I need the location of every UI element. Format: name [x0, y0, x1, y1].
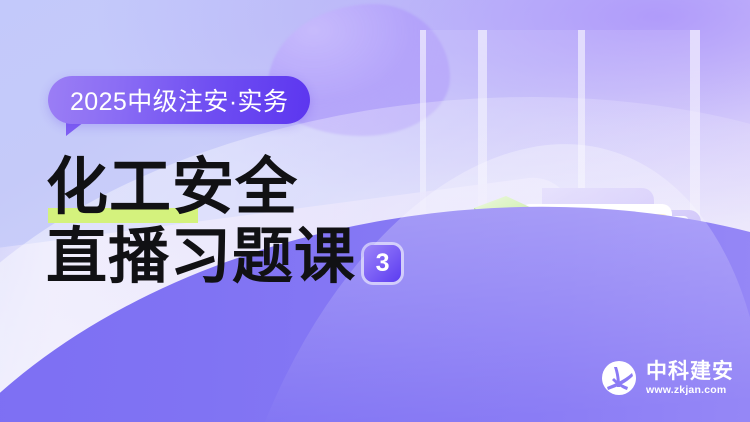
banner-content: 2025中级注安·实务 化工安全 直播习题课 3: [0, 0, 470, 422]
course-badge-label: 2025中级注安·实务: [70, 82, 288, 118]
badge-tail: [66, 122, 84, 136]
brand-logo[interactable]: 中科建安 www.zkjan.com: [601, 360, 734, 396]
zkjan-circle-icon: [601, 360, 637, 396]
logo-website-url: www.zkjan.com: [646, 384, 734, 396]
logo-company-name: 中科建安: [646, 361, 734, 383]
title-line-1: 化工安全: [46, 152, 298, 222]
logo-text-block: 中科建安 www.zkjan.com: [646, 361, 734, 396]
headline-row-2: 直播习题课 3: [46, 222, 476, 292]
title-line-2: 直播习题课: [46, 222, 356, 292]
course-badge: 2025中级注安·实务: [48, 76, 310, 124]
episode-number-badge: 3: [364, 245, 401, 282]
headline-row-1: 化工安全: [46, 152, 476, 222]
course-banner: 2025中级注安·实务 化工安全 直播习题课 3 中科建安 www.z: [0, 0, 750, 422]
headline: 化工安全 直播习题课 3: [46, 152, 476, 292]
